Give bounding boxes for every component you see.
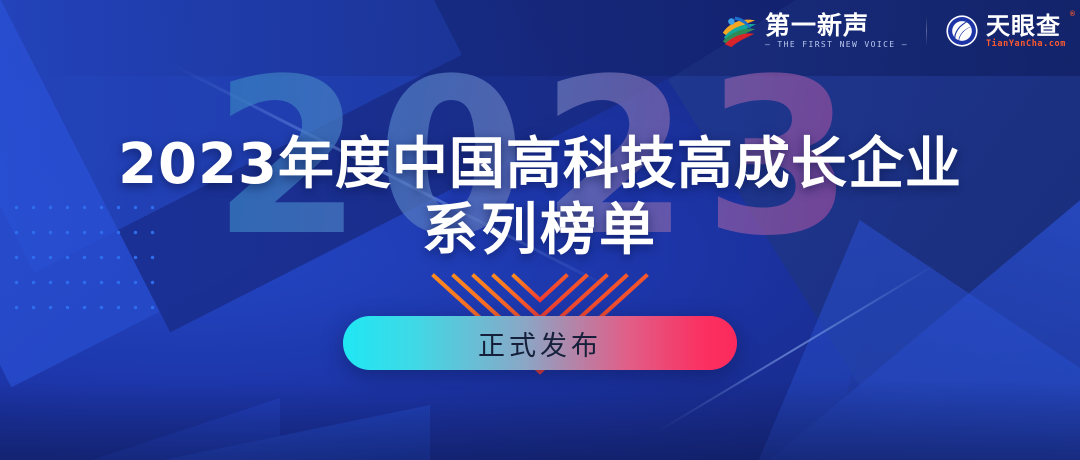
trademark-icon: ® (1070, 11, 1075, 18)
promo-banner: 2023 2023年度中国高科技高成长企业 系列榜单 (0, 0, 1080, 460)
logo-bar: 第一新声 — THE FIRST NEW VOICE — ® 天眼查 TianY… (720, 12, 1066, 50)
logo-tianyancha-text: ® 天眼查 TianYanCha.com (986, 13, 1066, 50)
page-title: 2023年度中国高科技高成长企业 系列榜单 (0, 132, 1080, 264)
logo-tianyancha-cn: 天眼查 (986, 13, 1066, 39)
logo-first-new-voice-text: 第一新声 — THE FIRST NEW VOICE — (765, 12, 908, 50)
release-cta-button[interactable]: 正式发布 (343, 316, 737, 370)
eye-aperture-icon (945, 14, 979, 48)
logo-first-new-voice-en: — THE FIRST NEW VOICE — (765, 39, 908, 50)
headline-line-2: 系列榜单 (0, 198, 1080, 264)
facet-bottom-shade (0, 380, 1080, 460)
swoosh-ribbon-icon (720, 12, 758, 50)
logo-tianyancha-en: TianYanCha.com (986, 39, 1066, 50)
logo-divider (926, 16, 927, 46)
facet-bottom-left-b (0, 310, 280, 460)
release-cta-label: 正式发布 (478, 324, 602, 363)
logo-tianyancha[interactable]: ® 天眼查 TianYanCha.com (945, 13, 1066, 50)
logo-first-new-voice-cn: 第一新声 (765, 12, 908, 39)
headline-line-1: 2023年度中国高科技高成长企业 (0, 132, 1080, 198)
logo-first-new-voice[interactable]: 第一新声 — THE FIRST NEW VOICE — (720, 12, 908, 50)
